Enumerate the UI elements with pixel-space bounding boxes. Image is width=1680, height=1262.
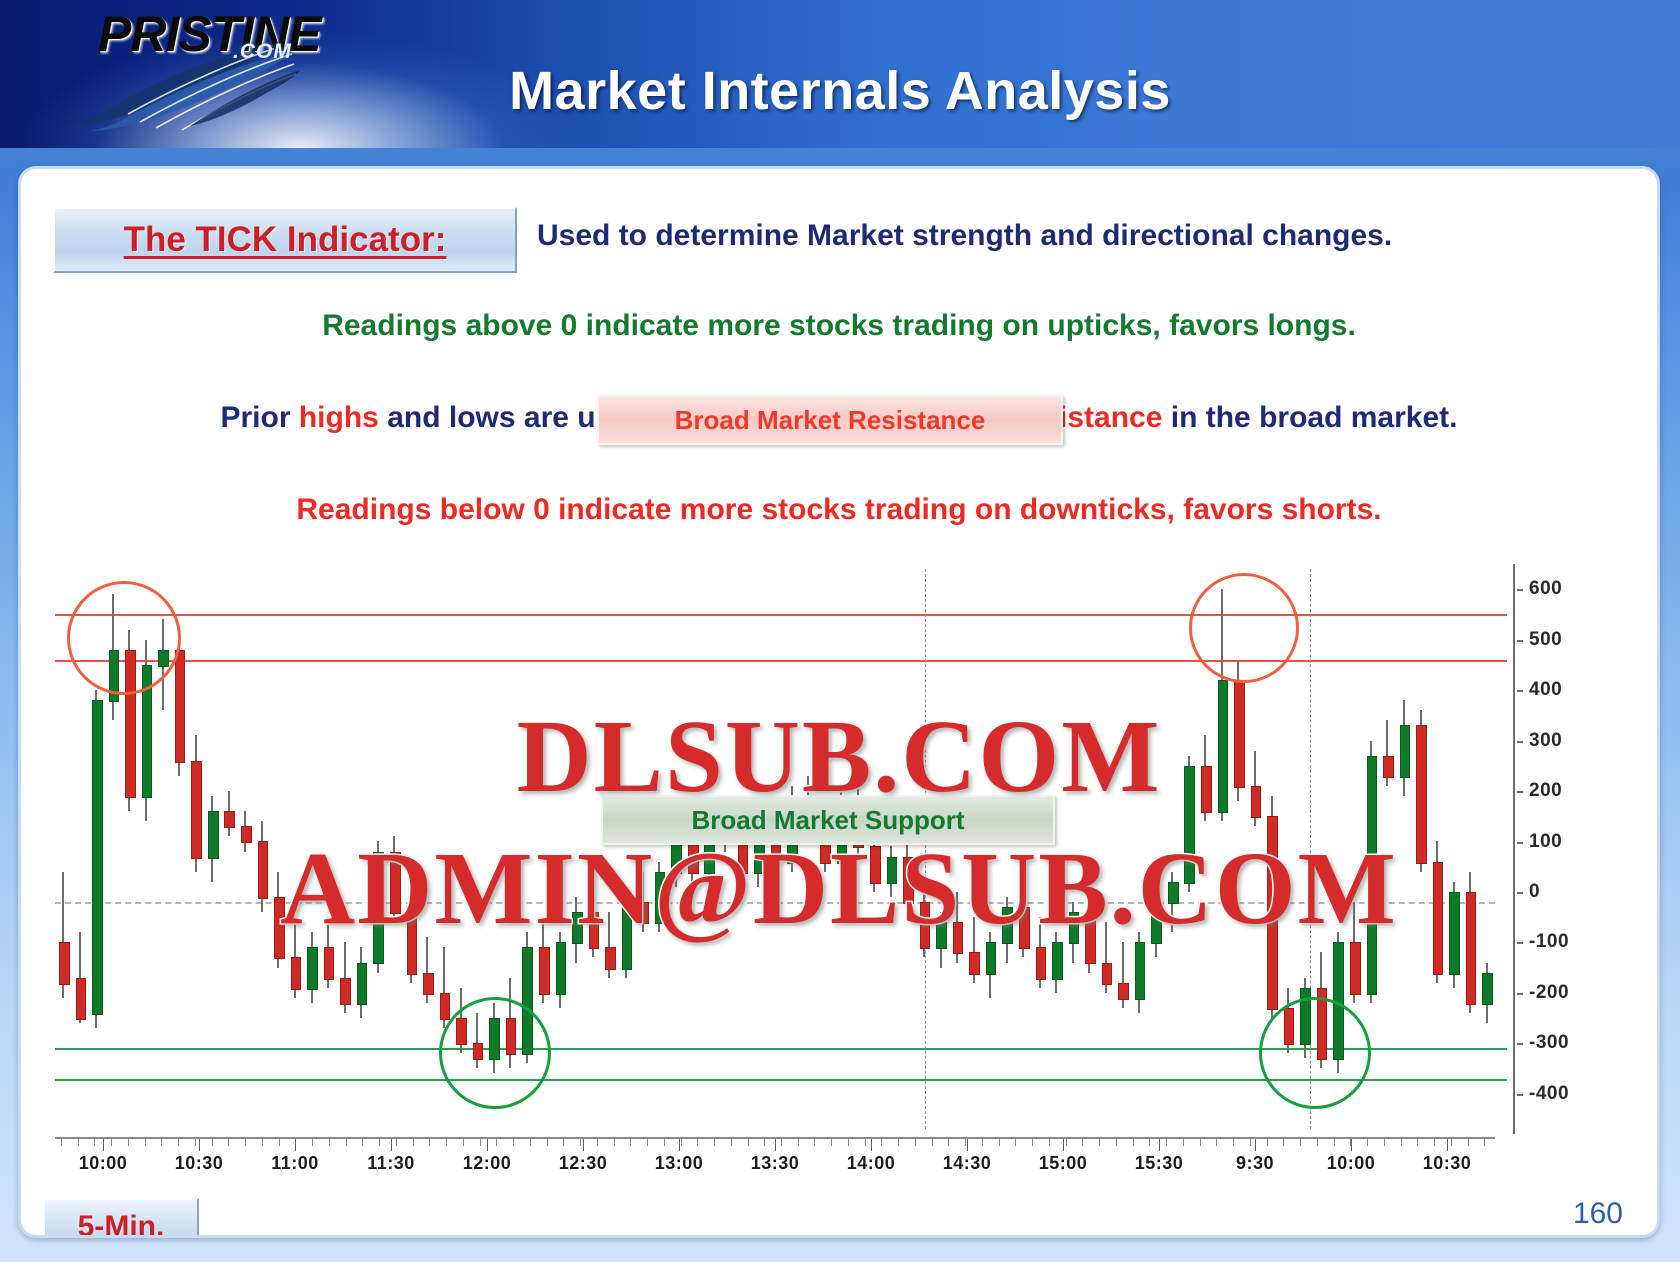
candlestick-body xyxy=(307,947,318,989)
candlestick-body xyxy=(920,902,931,949)
candlestick-body xyxy=(175,650,186,763)
x-axis-major-tick xyxy=(871,1139,872,1151)
x-axis-minor-tick xyxy=(1149,1139,1150,1146)
x-axis-major-tick xyxy=(199,1139,200,1151)
x-axis-minor-tick xyxy=(1384,1139,1385,1146)
candlestick xyxy=(1168,872,1177,933)
candlestick-body xyxy=(1019,907,1030,949)
x-axis-major-tick xyxy=(775,1139,776,1151)
candlestick-body xyxy=(1168,882,1179,904)
x-axis-minor-tick xyxy=(748,1139,749,1146)
x-axis-minor-tick xyxy=(496,1139,497,1146)
candlestick-body xyxy=(1449,892,1460,975)
x-axis-tick-label: 11:00 xyxy=(271,1153,319,1174)
y-axis-tick-label: 300 xyxy=(1529,730,1562,752)
candlestick-body xyxy=(1218,680,1229,813)
candlestick-body xyxy=(407,912,418,975)
candlestick-body xyxy=(1400,725,1411,777)
x-axis-minor-tick xyxy=(881,1139,882,1146)
chart-level-line xyxy=(55,902,1495,904)
candlestick xyxy=(423,937,432,1003)
x-axis-minor-tick xyxy=(831,1139,832,1146)
session-divider-line xyxy=(925,569,927,1129)
x-axis-minor-tick xyxy=(614,1139,615,1146)
candlestick xyxy=(1251,751,1260,827)
chart-x-axis: 10:0010:3011:0011:3012:0012:3013:0013:30… xyxy=(55,1137,1495,1185)
candlestick-body xyxy=(1466,892,1477,1005)
x-axis-tick-label: 13:00 xyxy=(655,1153,704,1174)
candlestick-body xyxy=(1201,766,1212,813)
candlestick-body xyxy=(59,942,70,984)
candlestick-body xyxy=(1267,816,1278,1010)
candlestick xyxy=(1135,932,1144,1013)
x-axis-tick-label: 10:30 xyxy=(1423,1153,1472,1174)
candlestick xyxy=(1367,741,1376,1003)
x-axis-major-tick xyxy=(295,1139,296,1151)
x-axis-minor-tick xyxy=(396,1139,397,1146)
x-axis-minor-tick xyxy=(781,1139,782,1146)
candlestick xyxy=(1350,902,1359,1003)
x-axis-minor-tick xyxy=(1166,1139,1167,1146)
support-banner: Broad Market Support xyxy=(601,795,1055,845)
y-axis-tick-label: 200 xyxy=(1529,780,1562,802)
candlestick xyxy=(92,690,101,1028)
candlestick xyxy=(589,887,598,958)
candlestick xyxy=(1449,882,1458,988)
x-axis-minor-tick xyxy=(798,1139,799,1146)
candlestick-body xyxy=(539,947,550,994)
x-axis-minor-tick xyxy=(1283,1139,1284,1146)
x-axis-minor-tick xyxy=(279,1139,280,1146)
candlestick xyxy=(1482,963,1491,1024)
tick-chart: 6005004003002001000-100-200-300-400 10:0… xyxy=(43,569,1635,1189)
x-axis-minor-tick xyxy=(1032,1139,1033,1146)
y-axis-tick xyxy=(1517,741,1523,743)
x-axis-tick-label: 10:00 xyxy=(1327,1153,1376,1174)
candlestick-body xyxy=(969,952,980,974)
x-axis-minor-tick xyxy=(312,1139,313,1146)
x-axis-minor-tick xyxy=(547,1139,548,1146)
candlestick-body xyxy=(1069,912,1080,944)
y-axis-spine xyxy=(1513,564,1515,1134)
candlestick xyxy=(390,836,399,922)
candlestick xyxy=(258,821,267,912)
candlestick xyxy=(556,932,565,1008)
candlestick-body xyxy=(655,872,666,924)
candlestick xyxy=(887,846,896,896)
x-axis-minor-tick xyxy=(1183,1139,1184,1146)
candlestick xyxy=(1069,902,1078,963)
x-axis-minor-tick xyxy=(1133,1139,1134,1146)
candlestick xyxy=(59,872,68,998)
prior-highs-word: highs xyxy=(299,401,379,434)
x-axis-minor-tick xyxy=(681,1139,682,1146)
y-axis-tick xyxy=(1517,842,1523,844)
x-axis-minor-tick xyxy=(982,1139,983,1146)
x-axis-minor-tick xyxy=(94,1139,95,1146)
x-axis-minor-tick xyxy=(1484,1139,1485,1146)
x-axis-minor-tick xyxy=(78,1139,79,1146)
y-axis-tick xyxy=(1517,1043,1523,1045)
x-axis-major-tick xyxy=(1447,1139,1448,1151)
candlestick-body xyxy=(208,811,219,858)
candlestick xyxy=(357,947,366,1018)
x-axis-minor-tick xyxy=(1468,1139,1469,1146)
candlestick-body xyxy=(1367,756,1378,995)
x-axis-minor-tick xyxy=(463,1139,464,1146)
x-axis-minor-tick xyxy=(1250,1139,1251,1146)
candlestick xyxy=(1052,932,1061,993)
candlestick xyxy=(953,892,962,963)
y-axis-tick xyxy=(1517,640,1523,642)
x-axis-minor-tick xyxy=(948,1139,949,1146)
candlestick xyxy=(1151,892,1160,958)
candlestick xyxy=(1267,796,1276,1018)
candlestick-body xyxy=(357,963,368,1005)
candlestick-body xyxy=(1135,942,1146,999)
candlestick-body xyxy=(291,957,302,989)
highlight-circle-resistance-afternoon xyxy=(1189,573,1299,683)
candlestick-body xyxy=(589,912,600,949)
x-axis-minor-tick xyxy=(429,1139,430,1146)
x-axis-tick-label: 9:30 xyxy=(1236,1153,1274,1174)
candlestick xyxy=(1085,887,1094,973)
highlight-circle-resistance-morning xyxy=(67,581,181,695)
candlestick xyxy=(224,791,233,836)
x-axis-major-tick xyxy=(583,1139,584,1151)
candlestick-body xyxy=(1151,902,1162,944)
y-axis-tick-label: -200 xyxy=(1529,982,1569,1004)
candlestick-body xyxy=(887,857,898,884)
x-axis-minor-tick xyxy=(999,1139,1000,1146)
candlestick xyxy=(969,917,978,983)
candlestick xyxy=(440,947,449,1028)
candlestick-body xyxy=(76,978,87,1020)
x-axis-minor-tick xyxy=(915,1139,916,1146)
x-axis-minor-tick xyxy=(814,1139,815,1146)
x-axis-minor-tick xyxy=(111,1139,112,1146)
candlestick-body xyxy=(258,841,269,898)
x-axis-minor-tick xyxy=(379,1139,380,1146)
x-axis-minor-tick xyxy=(1233,1139,1234,1146)
candlestick-body xyxy=(1433,862,1444,975)
x-axis-minor-tick xyxy=(563,1139,564,1146)
highlight-circle-support-nextopen xyxy=(1259,997,1371,1109)
candlestick-body xyxy=(1118,983,1129,1000)
x-axis-minor-tick xyxy=(1049,1139,1050,1146)
candlestick xyxy=(1019,882,1028,958)
support-banner-label: Broad Market Support xyxy=(691,805,964,836)
y-axis-tick-label: 500 xyxy=(1529,629,1562,651)
candlestick-body xyxy=(373,852,384,965)
x-axis-tick-label: 13:30 xyxy=(751,1153,800,1174)
chart-y-axis: 6005004003002001000-100-200-300-400 xyxy=(1495,564,1635,1144)
candlestick xyxy=(655,862,664,933)
candlestick xyxy=(340,942,349,1013)
candlestick xyxy=(936,912,945,967)
y-axis-tick xyxy=(1517,791,1523,793)
x-axis-major-tick xyxy=(967,1139,968,1151)
x-axis-major-tick xyxy=(487,1139,488,1151)
x-axis-minor-tick xyxy=(697,1139,698,1146)
candlestick-body xyxy=(241,826,252,843)
candlestick xyxy=(1118,942,1127,1008)
candlestick-body xyxy=(556,942,567,994)
candlestick xyxy=(572,897,581,963)
candlestick-body xyxy=(1036,947,1047,979)
tick-indicator-box: The TICK Indicator: xyxy=(53,207,517,273)
resistance-banner: Broad Market Resistance xyxy=(597,395,1063,445)
x-axis-minor-tick xyxy=(480,1139,481,1146)
x-axis-minor-tick xyxy=(1434,1139,1435,1146)
candlestick-body xyxy=(1234,680,1245,788)
x-axis-major-tick xyxy=(391,1139,392,1151)
y-axis-tick xyxy=(1517,1094,1523,1096)
candlestick-body xyxy=(936,922,947,949)
candlestick xyxy=(1201,735,1210,821)
x-axis-minor-tick xyxy=(1015,1139,1016,1146)
x-axis-minor-tick xyxy=(1317,1139,1318,1146)
y-axis-tick xyxy=(1517,942,1523,944)
y-axis-tick-label: 0 xyxy=(1529,881,1540,903)
x-axis-minor-tick xyxy=(1116,1139,1117,1146)
slide-root: PRISTINE .COM Market Internals Analysis … xyxy=(0,0,1680,1262)
candlestick xyxy=(1036,917,1045,988)
candlestick-body xyxy=(738,841,749,873)
x-axis-tick-label: 10:00 xyxy=(79,1153,128,1174)
candlestick-body xyxy=(340,978,351,1005)
candlestick xyxy=(373,841,382,972)
x-axis-tick-label: 15:00 xyxy=(1039,1153,1088,1174)
y-axis-tick-label: -100 xyxy=(1529,931,1569,953)
timeframe-label: 5-Min. xyxy=(78,1210,165,1238)
candlestick-body xyxy=(986,942,997,974)
x-axis-minor-tick xyxy=(61,1139,62,1146)
candlestick xyxy=(1400,700,1409,796)
candlestick xyxy=(241,811,250,851)
candlestick xyxy=(1002,897,1011,963)
x-axis-minor-tick xyxy=(212,1139,213,1146)
line-upticks: Readings above 0 indicate more stocks tr… xyxy=(21,309,1657,343)
candlestick-body xyxy=(605,947,616,969)
candlestick-body xyxy=(1102,963,1113,985)
x-axis-tick-label: 14:30 xyxy=(943,1153,992,1174)
x-axis-minor-tick xyxy=(245,1139,246,1146)
candlestick-body xyxy=(1482,973,1493,1005)
candlestick xyxy=(191,735,200,871)
candlestick xyxy=(638,872,647,933)
x-axis-minor-tick xyxy=(1334,1139,1335,1146)
page-number: 160 xyxy=(1573,1197,1623,1231)
x-axis-minor-tick xyxy=(413,1139,414,1146)
x-axis-minor-tick xyxy=(1216,1139,1217,1146)
x-axis-minor-tick xyxy=(898,1139,899,1146)
x-axis-minor-tick xyxy=(1451,1139,1452,1146)
candlestick-body xyxy=(671,841,682,873)
x-axis-minor-tick xyxy=(1267,1139,1268,1146)
candlestick-body xyxy=(1251,786,1262,818)
x-axis-minor-tick xyxy=(1401,1139,1402,1146)
candlestick xyxy=(291,922,300,998)
x-axis-major-tick xyxy=(1255,1139,1256,1151)
y-axis-tick-label: -300 xyxy=(1529,1032,1569,1054)
candlestick-body xyxy=(903,857,914,904)
candlestick-body xyxy=(870,846,881,883)
y-axis-tick xyxy=(1517,690,1523,692)
resistance-banner-label: Broad Market Resistance xyxy=(675,405,986,436)
x-axis-minor-tick xyxy=(329,1139,330,1146)
content-panel: The TICK Indicator: Used to determine Ma… xyxy=(18,166,1660,1238)
candlestick xyxy=(1383,720,1392,786)
candlestick-body xyxy=(688,841,699,873)
x-axis-minor-tick xyxy=(597,1139,598,1146)
candlestick-body xyxy=(324,947,335,979)
x-axis-minor-tick xyxy=(178,1139,179,1146)
x-axis-tick-label: 14:00 xyxy=(847,1153,896,1174)
x-axis-minor-tick xyxy=(764,1139,765,1146)
line-downticks: Readings below 0 indicate more stocks tr… xyxy=(21,493,1657,527)
candlestick-body xyxy=(390,852,401,915)
page-title: Market Internals Analysis xyxy=(0,60,1680,122)
candlestick xyxy=(903,836,912,912)
x-axis-minor-tick xyxy=(865,1139,866,1146)
candlestick-body xyxy=(423,973,434,995)
candlestick xyxy=(920,882,929,958)
x-axis-minor-tick xyxy=(1200,1139,1201,1146)
candlestick xyxy=(1416,710,1425,871)
x-axis-minor-tick xyxy=(128,1139,129,1146)
y-axis-tick xyxy=(1517,993,1523,995)
x-axis-minor-tick xyxy=(161,1139,162,1146)
x-axis-minor-tick xyxy=(262,1139,263,1146)
chart-level-line xyxy=(55,660,1507,662)
y-axis-tick-label: -400 xyxy=(1529,1083,1569,1105)
candlestick xyxy=(307,932,316,1003)
x-axis-minor-tick xyxy=(195,1139,196,1146)
candlestick xyxy=(986,932,995,998)
x-axis-minor-tick xyxy=(731,1139,732,1146)
x-axis-tick-label: 12:00 xyxy=(463,1153,512,1174)
candlestick-body xyxy=(274,897,285,960)
candlestick xyxy=(76,932,85,1023)
candlestick-body xyxy=(1350,942,1361,994)
x-axis-minor-tick xyxy=(1099,1139,1100,1146)
candlestick-body xyxy=(92,700,103,1015)
x-axis-minor-tick xyxy=(932,1139,933,1146)
y-axis-tick-label: 100 xyxy=(1529,831,1562,853)
y-axis-tick-label: 400 xyxy=(1529,679,1562,701)
x-axis-minor-tick xyxy=(1066,1139,1067,1146)
candlestick xyxy=(605,912,614,978)
timeframe-badge: 5-Min. xyxy=(43,1198,199,1238)
x-axis-major-tick xyxy=(1351,1139,1352,1151)
x-axis-minor-tick xyxy=(228,1139,229,1146)
candlestick-body xyxy=(1383,756,1394,778)
candlestick-body xyxy=(1416,725,1427,863)
candlestick xyxy=(1466,872,1475,1013)
candlestick xyxy=(407,887,416,983)
prior-text-4: in the broad market. xyxy=(1162,401,1457,434)
x-axis-minor-tick xyxy=(580,1139,581,1146)
x-axis-minor-tick xyxy=(145,1139,146,1146)
candlestick xyxy=(274,872,283,968)
x-axis-minor-tick xyxy=(848,1139,849,1146)
candlestick-body xyxy=(440,993,451,1020)
candlestick-body xyxy=(622,902,633,970)
candlestick xyxy=(622,892,631,978)
candlestick-body xyxy=(638,902,649,924)
candlestick xyxy=(539,922,548,1003)
x-axis-major-tick xyxy=(103,1139,104,1151)
x-axis-minor-tick xyxy=(1082,1139,1083,1146)
x-axis-minor-tick xyxy=(346,1139,347,1146)
candlestick-body xyxy=(1184,766,1195,884)
tick-description: Used to determine Market strength and di… xyxy=(537,219,1392,253)
x-axis-minor-tick xyxy=(1367,1139,1368,1146)
x-axis-tick-label: 11:30 xyxy=(367,1153,415,1174)
x-axis-tick-label: 10:30 xyxy=(175,1153,224,1174)
highlight-circle-support-midday xyxy=(439,997,551,1109)
x-axis-major-tick xyxy=(679,1139,680,1151)
x-axis-minor-tick xyxy=(1300,1139,1301,1146)
x-axis-minor-tick xyxy=(647,1139,648,1146)
x-axis-minor-tick xyxy=(530,1139,531,1146)
candlestick xyxy=(208,796,217,882)
x-axis-minor-tick xyxy=(714,1139,715,1146)
x-axis-minor-tick xyxy=(630,1139,631,1146)
candlestick-body xyxy=(1085,912,1096,964)
x-axis-minor-tick xyxy=(446,1139,447,1146)
y-axis-tick xyxy=(1517,589,1523,591)
prior-text-1: Prior xyxy=(221,401,299,434)
tick-indicator-label: The TICK Indicator: xyxy=(124,220,447,260)
x-axis-minor-tick xyxy=(362,1139,363,1146)
x-axis-major-tick xyxy=(1159,1139,1160,1151)
x-axis-minor-tick xyxy=(1417,1139,1418,1146)
candlestick-body xyxy=(191,761,202,859)
y-axis-tick-label: 600 xyxy=(1529,578,1562,600)
x-axis-minor-tick xyxy=(664,1139,665,1146)
candlestick-body xyxy=(1002,907,1013,944)
x-axis-major-tick xyxy=(1063,1139,1064,1151)
y-axis-tick xyxy=(1517,892,1523,894)
candlestick xyxy=(1102,922,1111,993)
candlestick-body xyxy=(224,811,235,828)
slide-header: PRISTINE .COM Market Internals Analysis xyxy=(0,0,1680,148)
candlestick xyxy=(1184,756,1193,892)
x-axis-tick-label: 12:30 xyxy=(559,1153,608,1174)
candlestick xyxy=(1433,841,1442,982)
candlestick-body xyxy=(572,912,583,944)
candlestick-body xyxy=(1052,942,1063,979)
candlestick xyxy=(324,917,333,988)
candlestick-body xyxy=(953,922,964,954)
x-axis-minor-tick xyxy=(513,1139,514,1146)
x-axis-tick-label: 15:30 xyxy=(1135,1153,1184,1174)
